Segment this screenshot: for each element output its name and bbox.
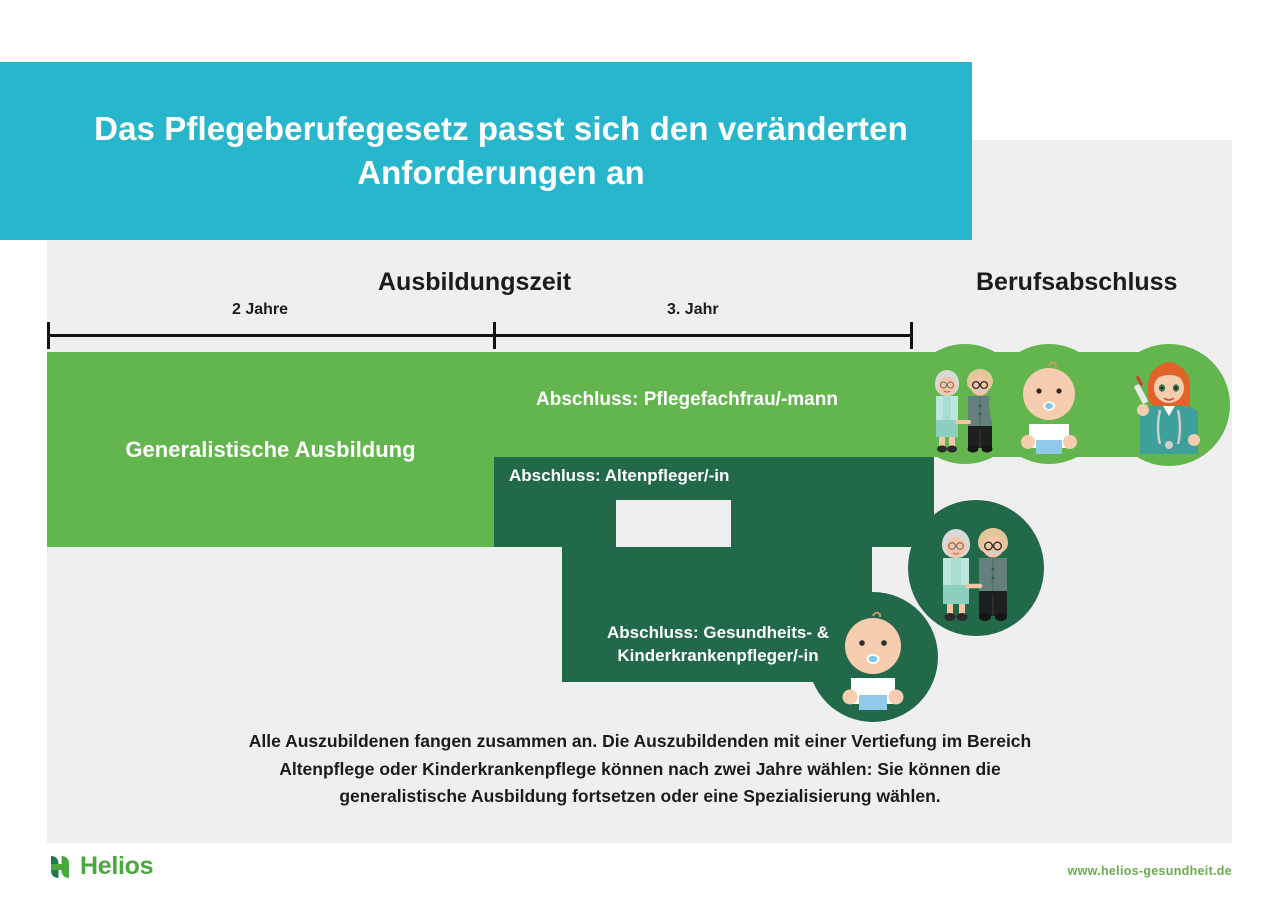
timeline-label-3-jahr: 3. Jahr xyxy=(667,301,719,319)
heading-ausbildungszeit: Ausbildungszeit xyxy=(378,268,571,297)
caption-text: Alle Auszubildenen fangen zusammen an. D… xyxy=(140,728,1140,811)
avatar-nurse-light xyxy=(1108,344,1230,466)
timeline-tick-end xyxy=(910,322,913,349)
track-altenpfleger-label: Abschluss: Altenpfleger/-in xyxy=(509,466,729,486)
heading-berufsabschluss: Berufsabschluss xyxy=(976,268,1177,297)
track-kinderkrankenpfleger-label-line1: Abschluss: Gesundheits- & xyxy=(568,622,868,645)
connector-kinder-horizontal xyxy=(562,547,872,607)
track-kinderkrankenpfleger-label: Abschluss: Gesundheits- & Kinderkrankenp… xyxy=(568,622,868,668)
footer-url: www.helios-gesundheit.de xyxy=(1068,864,1232,878)
timeline-label-2-jahre: 2 Jahre xyxy=(232,301,288,319)
infographic-canvas: 2 Jahre 3. Jahr Ausbildungszeit Berufsab… xyxy=(0,0,1280,905)
page-title: Das Pflegeberufegesetz passt sich den ve… xyxy=(0,107,972,195)
track-generalistic-label: Generalistische Ausbildung xyxy=(47,352,494,547)
timeline-axis: 2 Jahre 3. Jahr xyxy=(47,334,913,337)
avatar-elderly-couple-dark xyxy=(908,500,1044,636)
timeline-tick-start xyxy=(47,322,50,349)
avatar-baby-light xyxy=(989,344,1109,464)
track-pflegefachfrau-label: Abschluss: Pflegefachfrau/-mann xyxy=(536,389,838,411)
title-banner: Das Pflegeberufegesetz passt sich den ve… xyxy=(0,62,972,240)
helios-logo: Helios xyxy=(47,852,153,881)
caption-line-1: Alle Auszubildenen fangen zusammen an. D… xyxy=(140,728,1140,756)
caption-line-2: Altenpflege oder Kinderkrankenpflege kön… xyxy=(140,756,1140,784)
helios-wordmark: Helios xyxy=(80,852,153,881)
track-altenpfleger-notch xyxy=(616,500,731,547)
caption-line-3: generalistische Ausbildung fortsetzen od… xyxy=(140,783,1140,811)
helios-mark-icon xyxy=(47,853,73,881)
track-kinderkrankenpfleger-label-line2: Kinderkrankenpfleger/-in xyxy=(568,645,868,668)
timeline-tick-mid xyxy=(493,322,496,349)
